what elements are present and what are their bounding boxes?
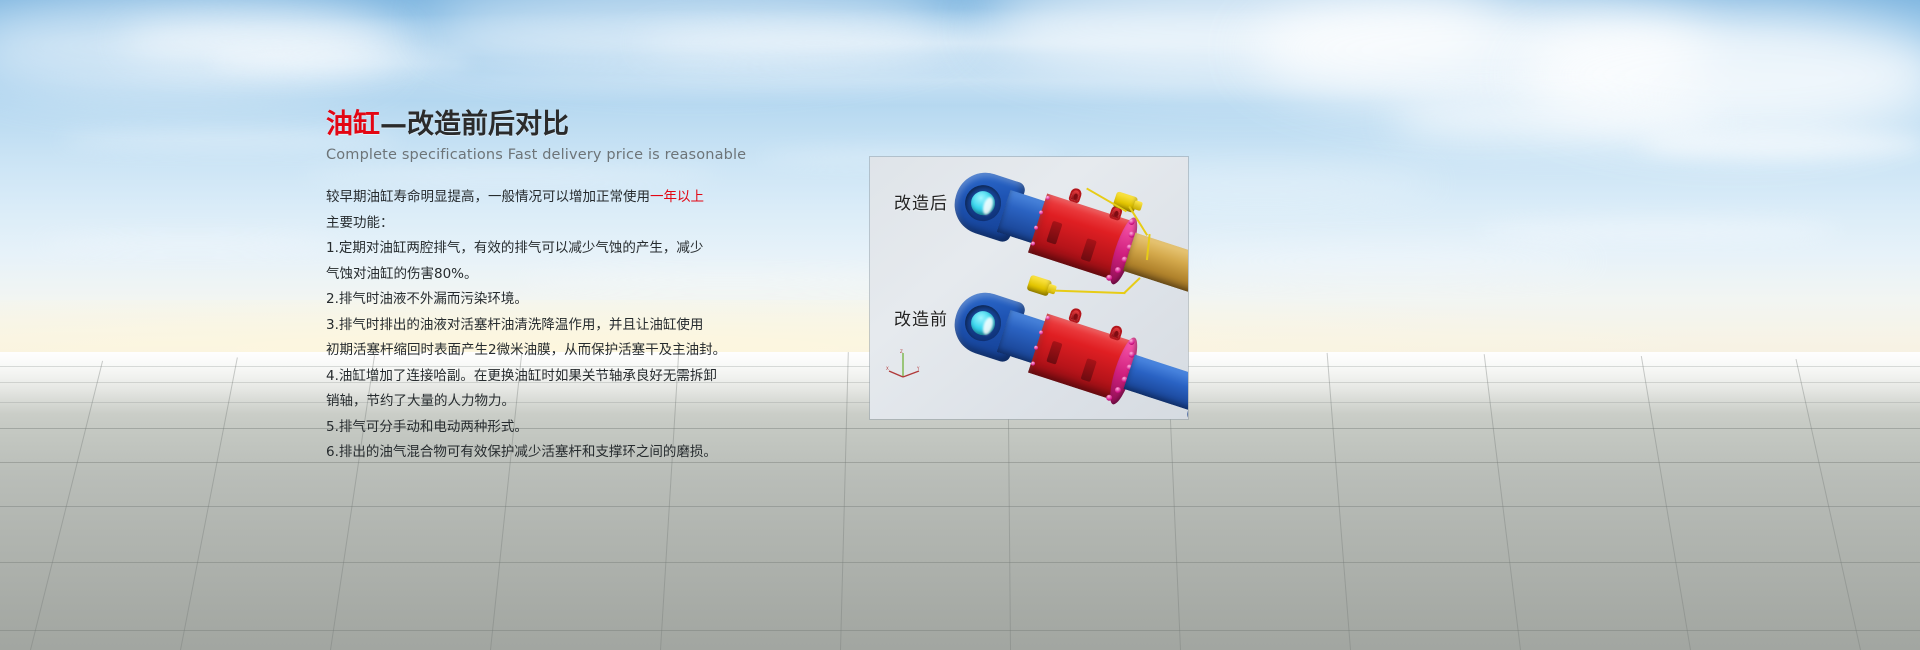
title-red-part: 油缸 [326,109,380,140]
feature-item-4-line2: 销轴，节约了大量的人力物力。 [326,389,726,415]
svg-text:Z: Z [900,349,903,354]
banner-stage: 油缸—改造前后对比 Complete specifications Fast d… [0,0,1920,650]
bearing-highlight [981,196,995,216]
coordinate-axis-icon: Z X Y [886,349,922,379]
page-subtitle: Complete specifications Fast delivery pr… [326,147,756,163]
feature-item-3-line1: 3.排气时排出的油液对活塞杆油清洗降温作用，并且让油缸使用 [326,313,726,339]
feature-description: 较早期油缸寿命明显提高，一般情况可以增加正常使用一年以上 主要功能： 1.定期对… [326,185,726,466]
feature-item-2-line1: 2.排气时油液不外漏而污染环境。 [326,287,726,313]
features-heading: 主要功能： [326,211,726,237]
feature-item-1-line2: 气蚀对油缸的伤害80%。 [326,262,726,288]
label-before-modification: 改造前 [894,305,948,330]
blue-piston-rod [1124,355,1188,413]
feature-item-4-line1: 4.油缸增加了连接哈副。在更换油缸时如果关节轴承良好无需拆卸 [326,364,726,390]
svg-text:X: X [886,366,889,371]
bearing-outer [960,180,1005,225]
bearing-inner [968,308,998,338]
vent-valve-lower [1026,275,1052,297]
label-after-modification: 改造后 [894,189,948,214]
title-dark-part: —改造前后对比 [380,109,569,140]
lifting-lug [1068,187,1083,204]
lifting-lug [1068,307,1083,324]
bearing-highlight [981,316,995,336]
bearing-outer [960,300,1005,345]
feature-item-3-line2: 初期活塞杆缩回时表面产生2微米油膜，从而保护活塞干及主油封。 [326,338,726,364]
intro-lead-text: 较早期油缸寿命明显提高，一般情况可以增加正常使用 [326,189,650,205]
product-comparison-image: 改造后 改造前 Z X Y [870,157,1188,419]
page-title: 油缸—改造前后对比 [326,108,756,142]
feature-item-6-line1: 6.排出的油气混合物可有效保护减少活塞杆和支撑环之间的磨损。 [326,440,726,466]
feature-item-1-line1: 1.定期对油缸两腔排气，有效的排气可以减少气蚀的产生，减少 [326,236,726,262]
bearing-inner [968,188,998,218]
feature-item-5-line1: 5.排气可分手动和电动两种形式。 [326,415,726,441]
intro-line: 较早期油缸寿命明显提高，一般情况可以增加正常使用一年以上 [326,185,726,211]
intro-highlight-text: 一年以上 [650,189,704,205]
banner-text-block: 油缸—改造前后对比 Complete specifications Fast d… [326,108,756,466]
svg-text:Y: Y [916,366,920,371]
